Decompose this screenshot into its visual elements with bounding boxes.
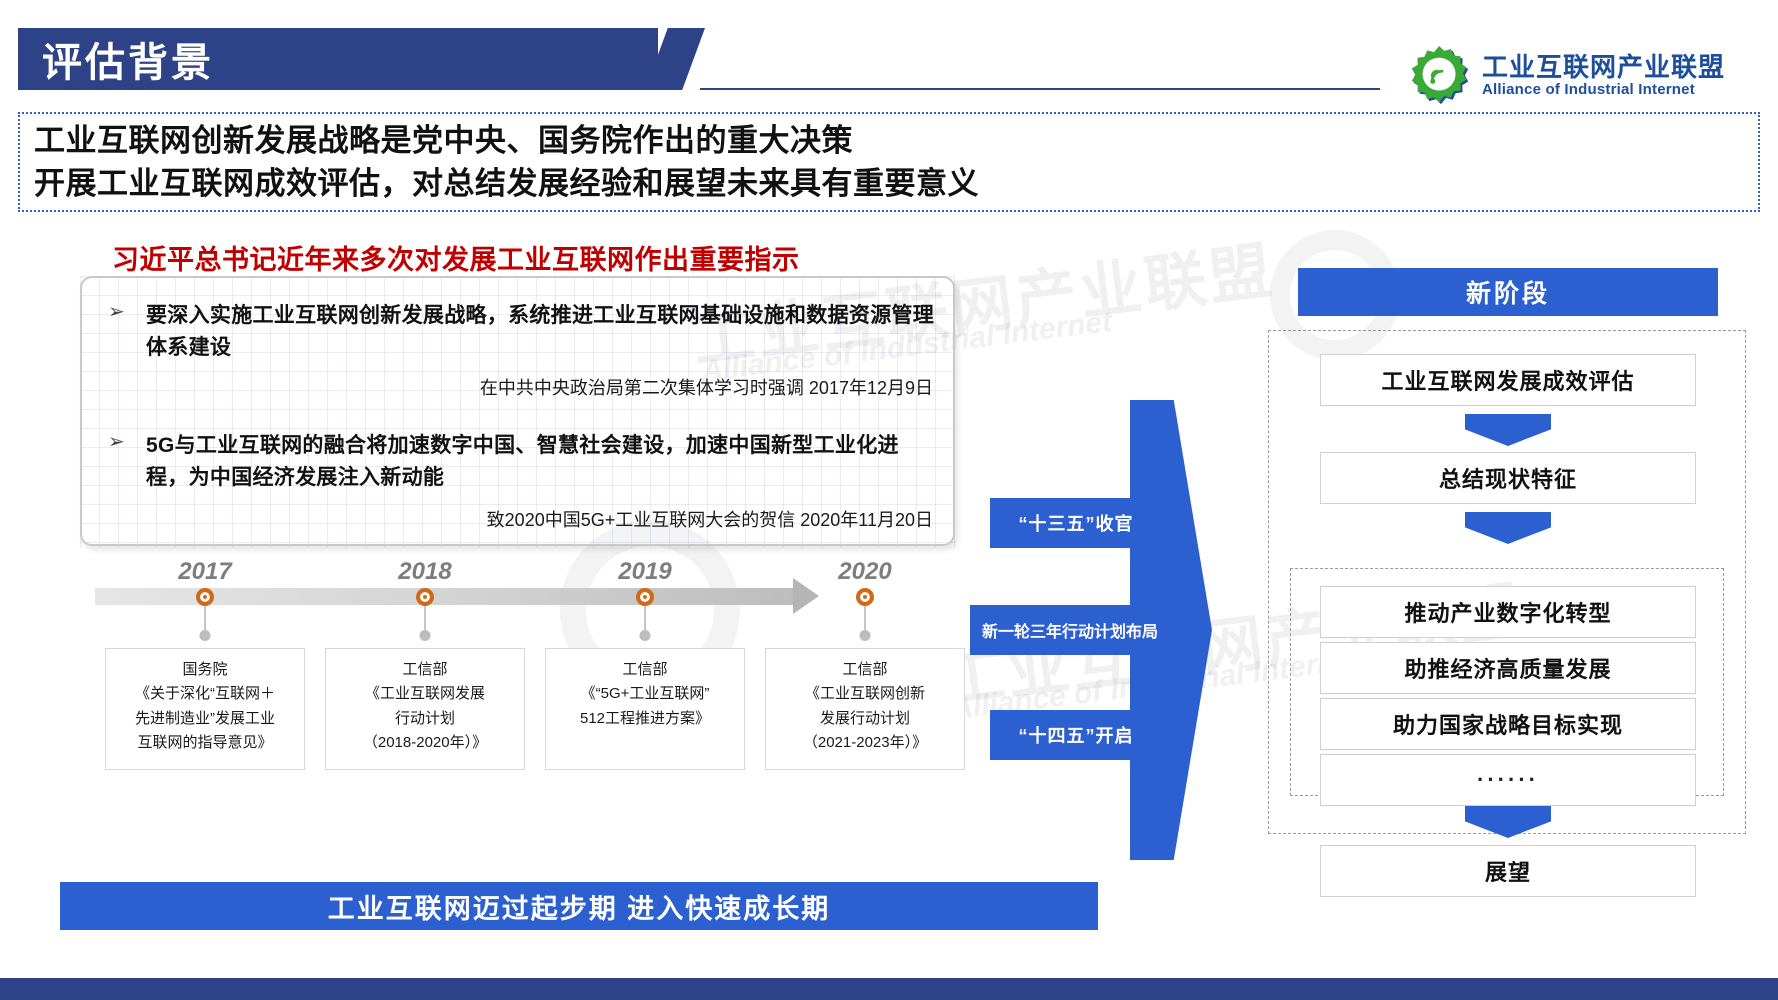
right-box-national-strategy-label: 助力国家战略目标实现 xyxy=(1393,708,1623,740)
timeline-card-2018-line-4: （2018-2020年）》 xyxy=(334,731,516,755)
timeline-year-2019: 2019 xyxy=(618,558,671,586)
quote-text-2: 5G与工业互联网的融合将加速数字中国、智慧社会建设，加速中国新型工业化进程，为中… xyxy=(146,430,938,494)
red-heading: 习近平总书记近年来多次对发展工业互联网作出重要指示 xyxy=(112,238,800,277)
timeline-dot-2019 xyxy=(636,588,654,606)
subtitle-box: 工业互联网创新发展战略是党中央、国务院作出的重大决策 开展工业互联网成效评估，对… xyxy=(18,112,1760,212)
quote-item-2: ➢ 5G与工业互联网的融合将加速数字中国、智慧社会建设，加速中国新型工业化进程，… xyxy=(108,430,938,494)
timeline-card-2019-line-3: 512工程推进方案》 xyxy=(554,707,736,731)
right-box-ellipsis-label: ······ xyxy=(1477,767,1539,793)
timeline-stem-2017 xyxy=(204,606,206,632)
timeline-stem-2020 xyxy=(864,606,866,632)
timeline-dot-2018 xyxy=(416,588,434,606)
timeline-card-2020-line-4: （2021-2023年）》 xyxy=(774,731,956,755)
right-box-national-strategy: 助力国家战略目标实现 xyxy=(1320,698,1696,750)
quote-item-1: ➢ 要深入实施工业互联网创新发展战略，系统推进工业互联网基础设施和数据资源管理体… xyxy=(108,300,938,364)
right-box-economy-label: 助推经济高质量发展 xyxy=(1404,652,1611,684)
slide-root: 工业互联网产业联盟 Alliance of Industrial Interne… xyxy=(0,0,1778,1000)
quote-cite-1: 在中共中央政治局第二次集体学习时强调 2017年12月9日 xyxy=(480,374,933,400)
right-box-evaluation: 工业互联网发展成效评估 xyxy=(1320,354,1696,406)
right-panel-header: 新阶段 xyxy=(1298,268,1718,316)
timeline-card-2017-line-4: 互联网的指导意见》 xyxy=(114,731,296,755)
quote-card: ➢ 要深入实施工业互联网创新发展战略，系统推进工业互联网基础设施和数据资源管理体… xyxy=(80,276,955,546)
logo-text-cn: 工业互联网产业联盟 xyxy=(1482,54,1725,81)
gear-wifi-icon xyxy=(1410,45,1472,107)
header-rule xyxy=(700,88,1380,90)
timeline-card-2019-line-1: 工信部 xyxy=(554,658,736,682)
timeline-card-2017: 国务院 《关于深化“互联网＋ 先进制造业”发展工业 互联网的指导意见》 xyxy=(105,648,305,770)
timeline-arrow-icon xyxy=(793,578,819,614)
bottom-blue-banner-text: 工业互联网迈过起步期 进入快速成长期 xyxy=(328,887,831,926)
quote-text-1: 要深入实施工业互联网创新发展战略，系统推进工业互联网基础设施和数据资源管理体系建… xyxy=(146,300,938,364)
timeline-dot-2020 xyxy=(856,588,874,606)
timeline-card-2017-line-3: 先进制造业”发展工业 xyxy=(114,707,296,731)
timeline-card-2020-line-1: 工信部 xyxy=(774,658,956,682)
bottom-strip xyxy=(0,972,1778,1000)
mid-label-1: “十三五”收官 xyxy=(990,498,1162,548)
right-box-evaluation-label: 工业互联网发展成效评估 xyxy=(1381,364,1634,396)
timeline-card-2020-line-2: 《工业互联网创新 xyxy=(774,682,956,706)
right-box-economy: 助推经济高质量发展 xyxy=(1320,642,1696,694)
timeline-year-2018: 2018 xyxy=(398,558,451,586)
subtitle-line-1: 工业互联网创新发展战略是党中央、国务院作出的重大决策 xyxy=(34,120,1758,163)
timeline-knob-2018 xyxy=(420,630,431,641)
timeline-knob-2017 xyxy=(200,630,211,641)
page-title: 评估背景 xyxy=(42,30,214,88)
brand-logo: 工业互联网产业联盟 Alliance of Industrial Interne… xyxy=(1410,45,1725,107)
header-band: 评估背景 xyxy=(18,28,658,90)
right-box-summary: 总结现状特征 xyxy=(1320,452,1696,504)
quote-cite-2: 致2020中国5G+工业互联网大会的贺信 2020年11月20日 xyxy=(487,506,933,532)
right-box-digital-transform: 推动产业数字化转型 xyxy=(1320,586,1696,638)
bottom-strip-inner xyxy=(0,972,1778,978)
timeline-stem-2019 xyxy=(644,606,646,632)
right-box-outlook: 展望 xyxy=(1320,845,1696,897)
timeline-card-2019-line-2: 《“5G+工业互联网” xyxy=(554,682,736,706)
timeline-dot-2017 xyxy=(196,588,214,606)
logo-text-en: Alliance of Industrial Internet xyxy=(1482,81,1725,98)
mid-label-3: “十四五”开启 xyxy=(990,710,1162,760)
timeline-card-2018-line-2: 《工业互联网发展 xyxy=(334,682,516,706)
timeline-card-2019: 工信部 《“5G+工业互联网” 512工程推进方案》 xyxy=(545,648,745,770)
subtitle-line-2: 开展工业互联网成效评估，对总结发展经验和展望未来具有重要意义 xyxy=(34,163,1758,206)
bottom-blue-banner: 工业互联网迈过起步期 进入快速成长期 xyxy=(60,882,1098,930)
timeline-stem-2018 xyxy=(424,606,426,632)
timeline-year-2017: 2017 xyxy=(178,558,231,586)
timeline-knob-2019 xyxy=(640,630,651,641)
logo-text-block: 工业互联网产业联盟 Alliance of Industrial Interne… xyxy=(1482,54,1725,98)
timeline-year-2020: 2020 xyxy=(838,558,891,586)
right-box-summary-label: 总结现状特征 xyxy=(1439,462,1577,494)
timeline-card-2018-line-3: 行动计划 xyxy=(334,707,516,731)
timeline-card-2017-line-1: 国务院 xyxy=(114,658,296,682)
right-box-digital-transform-label: 推动产业数字化转型 xyxy=(1404,596,1611,628)
timeline-knob-2020 xyxy=(860,630,871,641)
timeline-card-2020-line-3: 发展行动计划 xyxy=(774,707,956,731)
right-box-ellipsis: ······ xyxy=(1320,754,1696,806)
timeline-card-2017-line-2: 《关于深化“互联网＋ xyxy=(114,682,296,706)
mid-label-2: 新一轮三年行动计划布局 xyxy=(970,605,1170,655)
timeline-card-2020: 工信部 《工业互联网创新 发展行动计划 （2021-2023年）》 xyxy=(765,648,965,770)
right-box-outlook-label: 展望 xyxy=(1485,855,1531,887)
timeline-card-2018: 工信部 《工业互联网发展 行动计划 （2018-2020年）》 xyxy=(325,648,525,770)
bullet-arrow-icon-2: ➢ xyxy=(108,432,125,452)
timeline-card-2018-line-1: 工信部 xyxy=(334,658,516,682)
bullet-arrow-icon: ➢ xyxy=(108,302,125,322)
